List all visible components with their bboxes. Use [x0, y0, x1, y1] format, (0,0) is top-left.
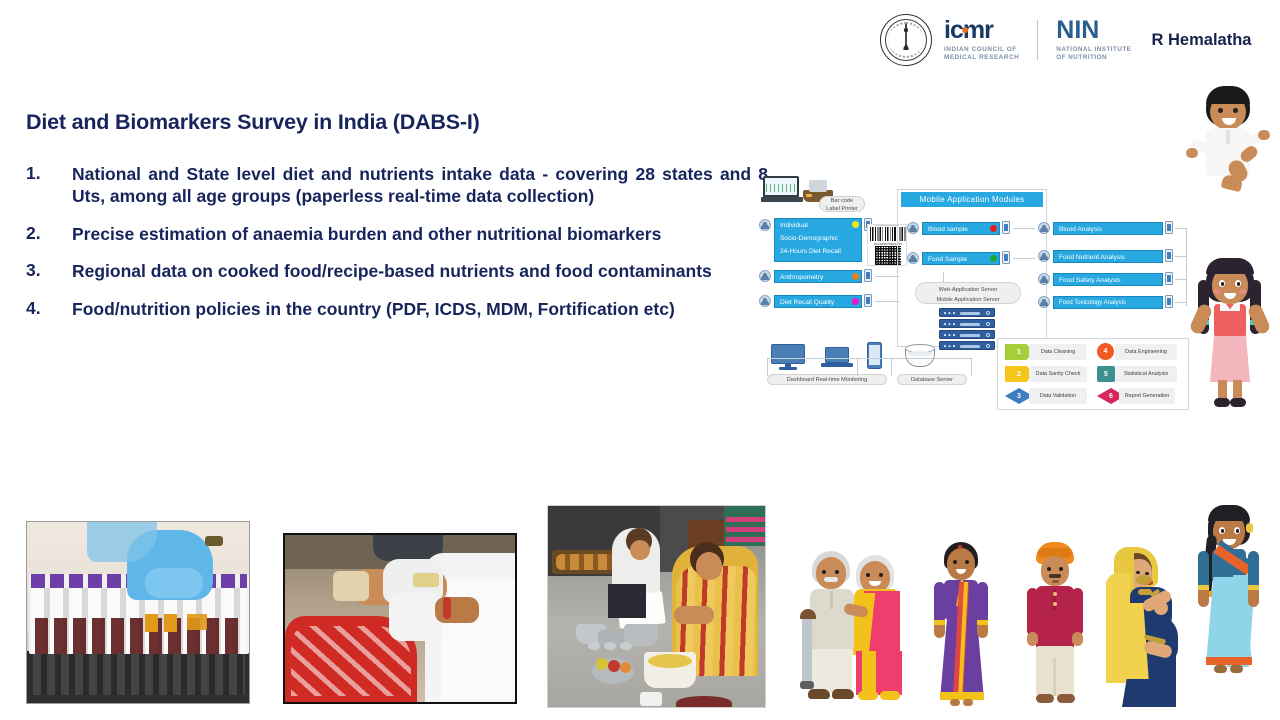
icmr-subtitle-line1: INDIAN COUNCIL OF — [944, 46, 1019, 54]
mobile-device-icon — [1002, 251, 1010, 264]
presenter-name: R Hemalatha — [1152, 31, 1252, 50]
mobile-device-icon — [1165, 272, 1173, 285]
mobile-device-icon — [1165, 249, 1173, 262]
module-label: Diet Recall Quality — [780, 299, 834, 306]
module-food-sample[interactable]: Food Sample — [922, 252, 1000, 265]
diet-survey-interview-photo — [547, 505, 766, 708]
module-label: Anthropometry — [780, 274, 823, 281]
bullet-number: 2. — [26, 223, 72, 245]
database-server-caption: Database Server — [897, 374, 967, 385]
connector-line — [875, 301, 899, 302]
connector-line — [1013, 258, 1035, 259]
user-avatar-icon — [759, 270, 771, 282]
status-dot-food-sample — [990, 255, 997, 262]
server-unit — [939, 308, 995, 317]
nin-acronym: NIN — [1056, 18, 1099, 43]
girl-blue-sari-figure — [1192, 505, 1264, 685]
smartphone-icon — [867, 342, 882, 369]
connector-line — [971, 358, 972, 376]
module-blood-analysis[interactable]: Blood Analysis — [1053, 222, 1163, 235]
module-label: Blood Analysis — [1059, 226, 1102, 233]
user-avatar-icon — [1038, 273, 1050, 285]
man-turban-figure — [1024, 542, 1086, 708]
module-label: Food Sample — [928, 256, 967, 263]
modules-banner: Mobile Application Modules — [901, 192, 1043, 207]
connector-line — [767, 358, 972, 359]
module-anthropometry[interactable]: Anthropometry — [774, 270, 862, 283]
connector-line — [857, 358, 858, 376]
module-individual[interactable]: Individual Socio-Demographic 24-Hours Di… — [774, 218, 862, 262]
user-avatar-icon — [759, 295, 771, 307]
step-5-label: Statistical Analysis — [1115, 366, 1177, 382]
module-food-safety-analysis[interactable]: Food Safety Analysis — [1053, 273, 1163, 286]
printer-caption-line2: Label Printer — [820, 206, 864, 214]
pregnant-woman-figure — [1092, 543, 1178, 708]
module-label: Food Safety Analysis — [1059, 277, 1121, 284]
dashboard-caption: Dashboard Real-time Monitoring — [767, 374, 887, 385]
step-number: 1 — [1017, 349, 1021, 356]
boy-figure — [1186, 86, 1270, 196]
module-blood-sample[interactable]: Blood sample — [922, 222, 1000, 235]
user-avatar-icon — [1038, 222, 1050, 234]
user-avatar-icon — [759, 219, 771, 231]
mobile-device-icon — [864, 294, 872, 307]
module-label: Food Toxicology Analysis — [1059, 300, 1126, 306]
user-avatar-icon — [1038, 296, 1050, 308]
user-avatar-icon — [907, 252, 919, 264]
status-dot-blood-sample — [990, 225, 997, 232]
step-number: 5 — [1104, 371, 1108, 378]
list-item: 1. National and State level diet and nut… — [26, 163, 768, 208]
module-food-toxicology-analysis[interactable]: Food Toxicology Analysis — [1053, 296, 1163, 309]
step-5-shape: 5 — [1097, 366, 1115, 382]
icmr-dot-icon — [962, 27, 968, 33]
module-label: 24-Hours Diet Recall — [780, 245, 861, 258]
connector-line — [891, 358, 892, 376]
step-number: 2 — [1017, 371, 1021, 378]
bullet-text: Food/nutrition policies in the country (… — [72, 298, 768, 320]
list-item: 3. Regional data on cooked food/recipe-b… — [26, 260, 768, 282]
header-logo-bar: icmr INDIAN COUNCIL OF MEDICAL RESEARCH … — [880, 8, 1280, 72]
module-diet-recall-quality[interactable]: Diet Recall Quality — [774, 295, 862, 308]
mobile-device-icon — [1165, 295, 1173, 308]
mobile-device-icon — [1002, 221, 1010, 234]
icmr-acronym: icmr — [944, 18, 993, 43]
icmr-logo: icmr INDIAN COUNCIL OF MEDICAL RESEARCH — [944, 18, 1019, 63]
bullet-number: 1. — [26, 163, 72, 208]
desktop-monitor-icon — [771, 344, 805, 370]
nin-subtitle-line2: OF NUTRITION — [1056, 54, 1131, 62]
module-label: Socio-Demographic — [780, 232, 861, 245]
bullet-text: Precise estimation of anaemia burden and… — [72, 223, 768, 245]
page-title: Diet and Biomarkers Survey in India (DAB… — [26, 110, 480, 135]
bullet-number: 4. — [26, 298, 72, 320]
status-dot-anthropometry — [852, 273, 859, 280]
girl-figure — [1190, 258, 1270, 408]
bullet-text: Regional data on cooked food/recipe-base… — [72, 260, 768, 282]
blood-collection-photo — [283, 533, 517, 704]
connector-line — [875, 225, 899, 226]
server-caption-line2: Mobile Application Server — [916, 295, 1020, 305]
server-unit — [939, 341, 995, 350]
mobile-device-icon — [864, 269, 872, 282]
printer-caption-line1: Bar code — [820, 198, 864, 206]
list-item: 2. Precise estimation of anaemia burden … — [26, 223, 768, 245]
step-6-label: Report Generation — [1119, 388, 1175, 404]
connector-line — [1175, 256, 1187, 257]
connector-line — [767, 358, 768, 376]
elderly-couple-figure — [800, 545, 910, 705]
module-label: Blood sample — [928, 226, 968, 233]
step-number: 3 — [1017, 393, 1021, 400]
status-dot-individual — [852, 221, 859, 228]
icmr-subtitle-line2: MEDICAL RESEARCH — [944, 54, 1019, 62]
list-item: 4. Food/nutrition policies in the countr… — [26, 298, 768, 320]
step-1-label: Data Cleaning — [1029, 344, 1087, 360]
nin-subtitle-line1: NATIONAL INSTITUTE — [1056, 46, 1131, 54]
tablet-device-icon — [761, 176, 807, 206]
module-label: Individual — [780, 219, 861, 232]
connector-line — [1186, 228, 1187, 306]
icmr-national-emblem-icon — [880, 14, 932, 66]
step-4-shape: 4 — [1097, 343, 1114, 360]
logo-divider — [1037, 20, 1038, 60]
user-avatar-icon — [1038, 250, 1050, 262]
server-unit — [939, 319, 995, 328]
mobile-device-icon — [1165, 221, 1173, 234]
app-server-caption: Web-Application Server Mobile Applicatio… — [915, 282, 1021, 304]
connector-line — [1175, 279, 1187, 280]
nin-logo: NIN NATIONAL INSTITUTE OF NUTRITION — [1056, 18, 1131, 63]
step-2-label: Data Sanity Check — [1029, 366, 1087, 382]
dabs-architecture-diagram: Bar code Label Printer Individual Socio-… — [757, 172, 1189, 412]
blood-sample-tubes-photo — [26, 521, 250, 704]
step-number: 6 — [1109, 393, 1113, 400]
user-avatar-icon — [907, 222, 919, 234]
connector-line — [1175, 302, 1187, 303]
connector-line — [875, 276, 899, 277]
status-dot-diet-recall-quality — [852, 298, 859, 305]
server-caption-line1: Web-Application Server — [916, 285, 1020, 295]
module-label: Food Nutrient Analysis — [1059, 254, 1125, 261]
server-unit — [939, 330, 995, 339]
step-3-label: Data Validation — [1029, 388, 1087, 404]
step-number: 4 — [1104, 348, 1108, 355]
bullet-list: 1. National and State level diet and nut… — [26, 163, 768, 335]
module-food-nutrient-analysis[interactable]: Food Nutrient Analysis — [1053, 250, 1163, 263]
bullet-text: National and State level diet and nutrie… — [72, 163, 768, 208]
connector-line — [1013, 228, 1035, 229]
woman-purple-sari-figure — [930, 542, 992, 708]
barcode-printer-caption: Bar code Label Printer — [819, 196, 865, 212]
bullet-number: 3. — [26, 260, 72, 282]
database-cylinder-icon — [905, 344, 935, 370]
step-4-label: Data Engineering — [1115, 344, 1177, 360]
